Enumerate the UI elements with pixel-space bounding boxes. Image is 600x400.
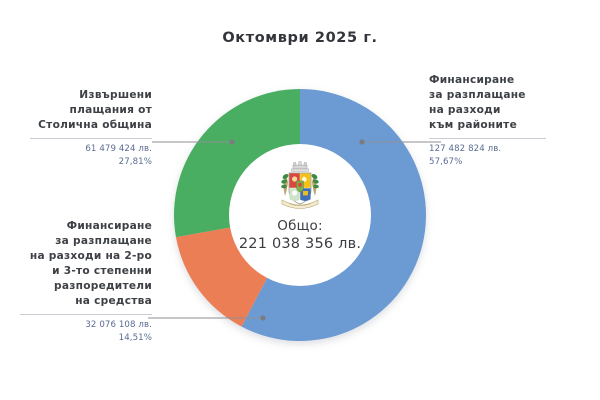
callout-second-third-level-line4: и 3-то степенни: [2, 264, 152, 279]
callout-regions-value: 127 482 824 лв.: [429, 143, 589, 155]
donut-chart-page: Октомври 2025 г.: [0, 0, 600, 400]
callout-second-third-level[interactable]: Финансиране за разплащане на разходи на …: [2, 219, 152, 344]
donut-svg: [174, 58, 426, 372]
callout-second-third-level-value: 32 076 108 лв.: [2, 319, 152, 331]
callout-second-third-level-headline: Финансиране за разплащане на разходи на …: [2, 219, 152, 309]
callout-second-third-level-line6: на средства: [2, 294, 152, 309]
callout-municipality-payments[interactable]: Извършени плащания от Столична община 61…: [12, 88, 152, 168]
callout-second-third-level-line2: за разплащане: [2, 234, 152, 249]
callout-municipality-payments-line2: плащания от: [12, 103, 152, 118]
callout-municipality-payments-rule: [30, 138, 152, 139]
donut-hole: [229, 144, 371, 286]
callout-regions-rule: [429, 138, 546, 139]
callout-regions-headline: Финансиране за разплащане на разходи към…: [429, 73, 589, 133]
callout-regions-line4: към районите: [429, 118, 589, 133]
callout-regions-line2: за разплащане: [429, 88, 589, 103]
page-title: Октомври 2025 г.: [0, 30, 600, 46]
callout-second-third-level-line3: на разходи на 2-ро: [2, 249, 152, 264]
callout-second-third-level-rule: [20, 314, 152, 315]
callout-second-third-level-percent: 14,51%: [2, 332, 152, 344]
callout-second-third-level-line1: Финансиране: [2, 219, 152, 234]
callout-municipality-payments-line1: Извършени: [12, 88, 152, 103]
callout-regions-line3: на разходи: [429, 103, 589, 118]
callout-municipality-payments-line3: Столична община: [12, 118, 152, 133]
callout-regions[interactable]: Финансиране за разплащане на разходи към…: [429, 73, 589, 168]
callout-municipality-payments-percent: 27,81%: [12, 156, 152, 168]
callout-municipality-payments-value: 61 479 424 лв.: [12, 143, 152, 155]
donut-chart: [174, 58, 426, 372]
callout-second-third-level-line5: разпоредители: [2, 279, 152, 294]
callout-regions-line1: Финансиране: [429, 73, 589, 88]
callout-municipality-payments-headline: Извършени плащания от Столична община: [12, 88, 152, 133]
callout-regions-percent: 57,67%: [429, 156, 589, 168]
